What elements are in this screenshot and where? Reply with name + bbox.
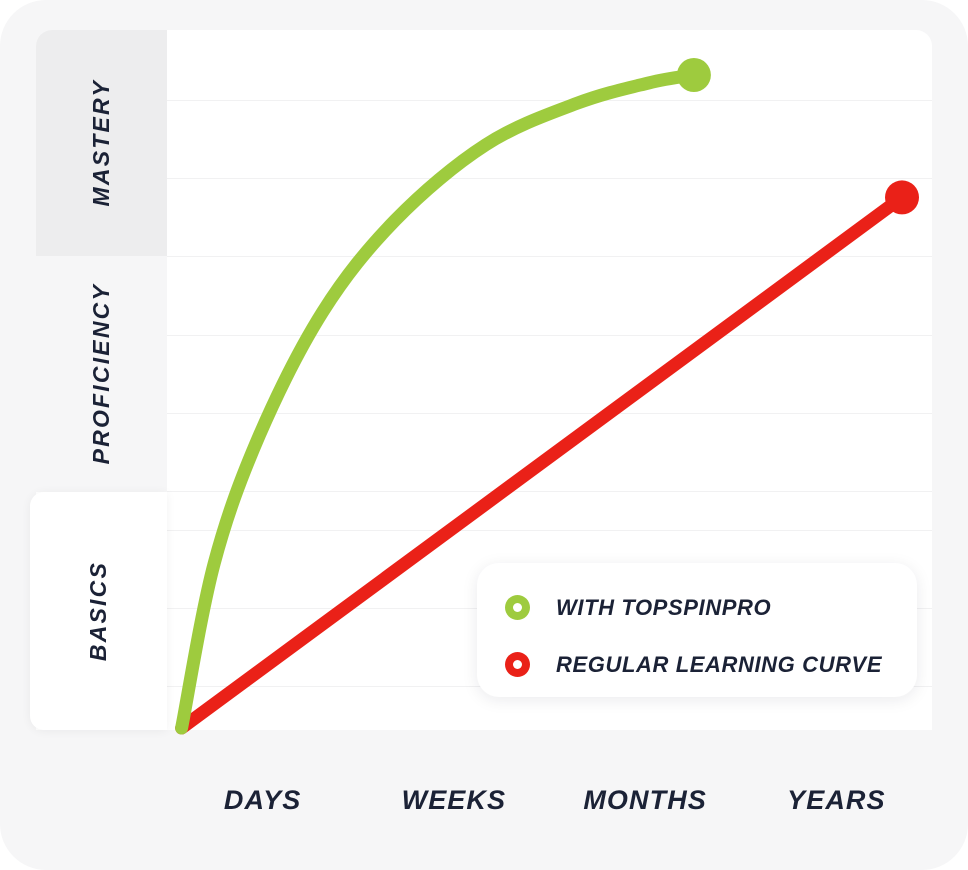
x-tick-months: MONTHS bbox=[550, 775, 741, 825]
y-band-label: PROFICIENCY bbox=[90, 283, 113, 464]
x-tick-weeks: WEEKS bbox=[358, 775, 549, 825]
x-tick-days: DAYS bbox=[167, 775, 358, 825]
gridline bbox=[36, 491, 932, 492]
gridline bbox=[36, 256, 932, 257]
y-band-basics: BASICS bbox=[30, 492, 167, 730]
y-band-mastery: MASTERY bbox=[36, 30, 167, 256]
gridline bbox=[36, 178, 932, 179]
legend-item-with-topspinpro[interactable]: WITH TOPSPINPRO bbox=[505, 585, 917, 630]
x-tick-years: YEARS bbox=[741, 775, 932, 825]
y-band-label: BASICS bbox=[87, 561, 110, 661]
gridline bbox=[36, 100, 932, 101]
gridline bbox=[36, 335, 932, 336]
legend-marker-green-donut-icon bbox=[505, 595, 530, 620]
gridline bbox=[36, 530, 932, 531]
legend-marker-red-donut-icon bbox=[505, 652, 530, 677]
legend-item-label: WITH TOPSPINPRO bbox=[556, 595, 771, 621]
legend-item-regular-learning-curve[interactable]: REGULAR LEARNING CURVE bbox=[505, 642, 917, 687]
y-band-proficiency: PROFICIENCY bbox=[36, 256, 167, 492]
gridline bbox=[36, 413, 932, 414]
legend-item-label: REGULAR LEARNING CURVE bbox=[556, 652, 882, 678]
chart-legend: WITH TOPSPINPRO REGULAR LEARNING CURVE bbox=[477, 563, 917, 697]
learning-curve-chart-card: MASTERY PROFICIENCY BASICS WITH TOPSPINP… bbox=[0, 0, 968, 870]
x-axis: DAYS WEEKS MONTHS YEARS bbox=[167, 775, 932, 825]
y-band-label: MASTERY bbox=[90, 79, 113, 206]
